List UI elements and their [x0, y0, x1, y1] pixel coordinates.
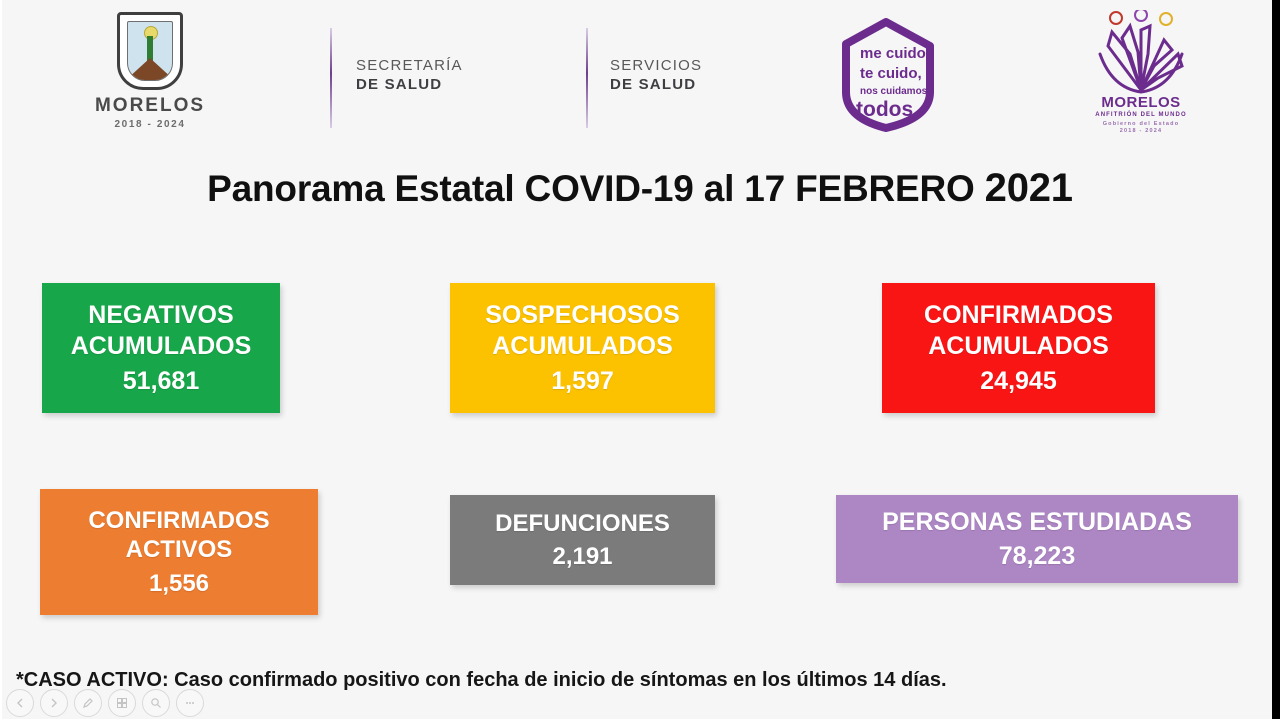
logo-divider-1 [330, 28, 332, 128]
stat-label-line1: SOSPECHOSOS [485, 300, 680, 331]
servicios-line1: SERVICIOS [610, 56, 702, 75]
zoom-slide-button[interactable] [142, 689, 170, 717]
presentation-slide: MORELOS 2018 - 2024 SECRETARÍA DE SALUD … [0, 0, 1280, 719]
anfitrion-years: 2018 - 2024 [1078, 128, 1204, 134]
cuido-line2: te cuido, [860, 65, 922, 82]
stat-card-personas-estudiadas: PERSONAS ESTUDIADAS 78,223 [836, 495, 1238, 583]
stat-label-line1: DEFUNCIONES [495, 509, 670, 538]
pen-tools-button[interactable] [74, 689, 102, 717]
more-options-button[interactable] [176, 689, 204, 717]
previous-slide-button[interactable] [6, 689, 34, 717]
logo-bar: MORELOS 2018 - 2024 SECRETARÍA DE SALUD … [0, 0, 1280, 150]
stat-card-negativos-acumulados: NEGATIVOS ACUMULADOS 51,681 [42, 283, 280, 413]
left-edge-band [0, 0, 2, 719]
stat-label-line1: PERSONAS ESTUDIADAS [882, 507, 1192, 538]
stat-label-line2: ACUMULADOS [924, 331, 1113, 362]
right-edge-band [1272, 0, 1280, 719]
chevron-right-icon [48, 697, 60, 709]
secretaria-line2: DE SALUD [356, 75, 463, 94]
next-slide-button[interactable] [40, 689, 68, 717]
slide-title: Panorama Estatal COVID-19 al 17 FEBRERO … [0, 166, 1280, 211]
stat-value: 78,223 [999, 542, 1075, 571]
stat-label: DEFUNCIONES [495, 509, 670, 538]
shield-icon: me cuido, te cuido, nos cuidamos todos [826, 14, 952, 134]
stat-label-line2: ACUMULADOS [71, 331, 252, 362]
me-cuido-te-cuido-logo: me cuido, te cuido, nos cuidamos todos [826, 14, 952, 134]
anfitrion-name: MORELOS [1078, 94, 1204, 111]
secretaria-line1: SECRETARÍA [356, 56, 463, 75]
stat-label-line2: ACUMULADOS [485, 331, 680, 362]
stat-label: SOSPECHOSOS ACUMULADOS [485, 300, 680, 361]
logo-divider-2 [586, 28, 588, 128]
stat-value: 24,945 [980, 367, 1056, 396]
ellipsis-icon [184, 697, 196, 709]
pen-icon [82, 697, 94, 709]
slide-title-year: 2021 [985, 166, 1073, 210]
stat-label-line1: CONFIRMADOS [924, 300, 1113, 331]
stat-value: 51,681 [123, 367, 199, 396]
slide-title-text: Panorama Estatal COVID-19 al 17 FEBRERO [207, 168, 985, 209]
mound-icon [127, 58, 173, 80]
stat-label-line1: CONFIRMADOS [88, 506, 269, 535]
crest-state-name: MORELOS [88, 95, 212, 117]
stat-label-line1: NEGATIVOS [71, 300, 252, 331]
servicios-de-salud-logo: SERVICIOS DE SALUD [610, 56, 702, 94]
stat-label: CONFIRMADOS ACUMULADOS [924, 300, 1113, 361]
stat-card-sospechosos-acumulados: SOSPECHOSOS ACUMULADOS 1,597 [450, 283, 715, 413]
stat-label: CONFIRMADOS ACTIVOS [88, 506, 269, 565]
stat-value: 1,597 [551, 367, 614, 396]
chevron-left-icon [14, 697, 26, 709]
servicios-line2: DE SALUD [610, 75, 702, 94]
stat-card-confirmados-acumulados: CONFIRMADOS ACUMULADOS 24,945 [882, 283, 1155, 413]
flower-icon [1086, 10, 1196, 96]
stat-card-confirmados-activos: CONFIRMADOS ACTIVOS 1,556 [40, 489, 318, 615]
magnifier-icon [150, 697, 162, 709]
coat-of-arms-field [127, 21, 173, 81]
all-slides-button[interactable] [108, 689, 136, 717]
grid-icon [116, 697, 128, 709]
stat-label-line2: ACTIVOS [88, 535, 269, 564]
stat-label: PERSONAS ESTUDIADAS [882, 507, 1192, 538]
morelos-anfitrion-logo: MORELOS ANFITRIÓN DEL MUNDO Gobierno del… [1078, 10, 1204, 142]
cuido-line4: todos [856, 98, 913, 121]
crest-years: 2018 - 2024 [88, 119, 212, 130]
secretaria-de-salud-logo: SECRETARÍA DE SALUD [356, 56, 463, 94]
morelos-coat-of-arms-logo: MORELOS 2018 - 2024 [88, 12, 212, 130]
stat-value: 1,556 [149, 570, 209, 598]
stat-value: 2,191 [552, 543, 612, 571]
stat-label: NEGATIVOS ACUMULADOS [71, 300, 252, 361]
presenter-toolbar[interactable] [6, 689, 204, 717]
cuido-line3: nos cuidamos [860, 86, 928, 97]
coat-of-arms-shield-icon [117, 12, 183, 90]
stat-card-defunciones: DEFUNCIONES 2,191 [450, 495, 715, 585]
cuido-line1: me cuido, [860, 45, 930, 62]
anfitrion-subtitle: ANFITRIÓN DEL MUNDO [1078, 112, 1204, 118]
anfitrion-government: Gobierno del Estado [1078, 121, 1204, 127]
